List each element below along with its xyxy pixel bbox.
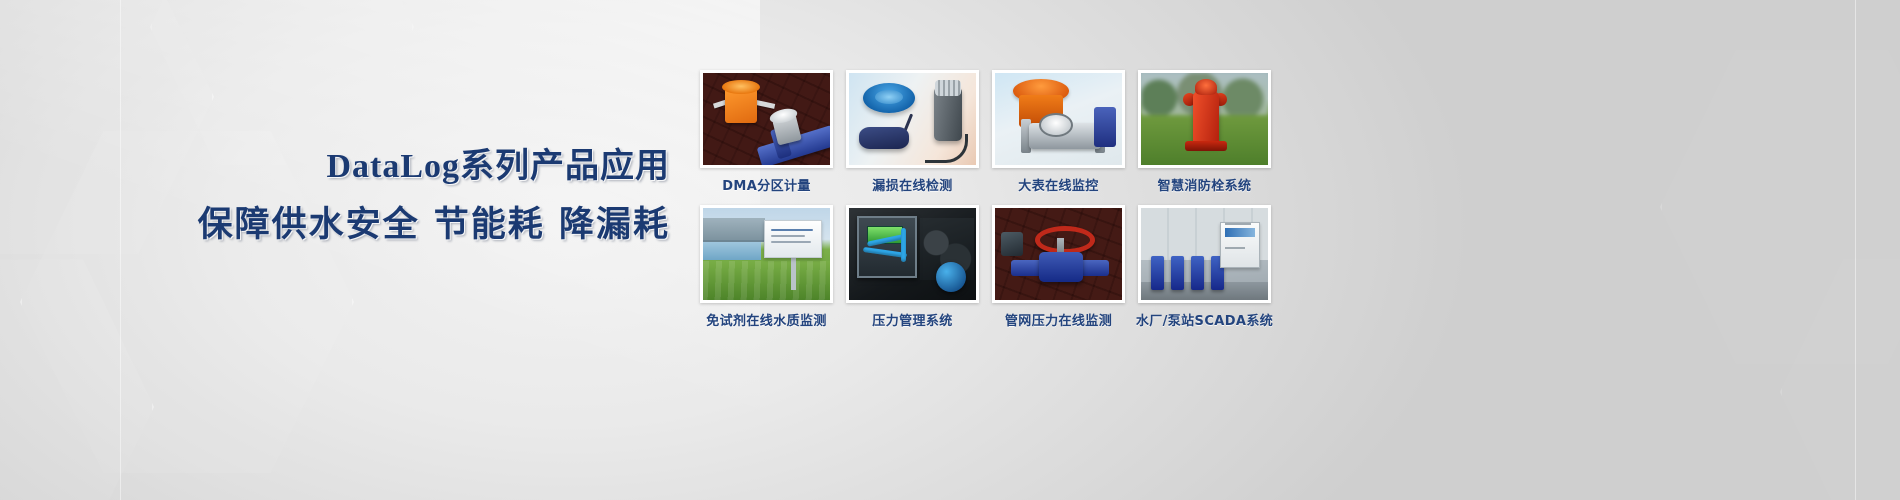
product-caption: 智慧消防栓系统 — [1158, 175, 1252, 194]
product-thumbnail[interactable] — [1138, 205, 1271, 303]
smart-fire-hydrant-photo — [1141, 73, 1268, 165]
product-thumbnail[interactable] — [992, 70, 1125, 168]
product-caption: 水厂/泵站SCADA系统 — [1136, 310, 1273, 329]
product-card-water-quality[interactable]: 免试剂在线水质监测 — [700, 205, 833, 331]
product-caption: 漏损在线检测 — [872, 175, 952, 194]
product-card-scada[interactable]: 水厂/泵站SCADA系统 — [1138, 205, 1271, 331]
product-caption: DMA分区计量 — [722, 175, 811, 194]
product-card-pressure-management[interactable]: 压力管理系统 — [846, 205, 979, 331]
product-application-grid: DMA分区计量 漏损在线检测 — [700, 70, 1280, 331]
waterworks-pump-scada-photo — [1141, 208, 1268, 300]
product-thumbnail[interactable] — [700, 205, 833, 303]
background-vertical-line — [1855, 0, 1856, 500]
diagonal-light-overlay — [0, 0, 760, 500]
product-card-large-meter[interactable]: 大表在线监控 — [992, 70, 1125, 196]
headline-line-2: 保障供水安全 节能耗 降漏耗 — [0, 206, 670, 245]
water-quality-station-photo — [703, 208, 830, 300]
product-card-pipe-pressure[interactable]: 管网压力在线监测 — [992, 205, 1125, 331]
product-application-banner: DataLog系列产品应用 保障供水安全 节能耗 降漏耗 DMA分区计量 — [0, 0, 1900, 500]
product-thumbnail[interactable] — [846, 70, 979, 168]
pressure-management-cabinet-photo — [849, 208, 976, 300]
product-caption: 压力管理系统 — [872, 310, 952, 329]
product-card-leak-detection[interactable]: 漏损在线检测 — [846, 70, 979, 196]
dma-metering-chamber-photo — [703, 73, 830, 165]
product-thumbnail[interactable] — [846, 205, 979, 303]
large-water-meter-photo — [995, 73, 1122, 165]
product-thumbnail[interactable] — [992, 205, 1125, 303]
product-card-smart-hydrant[interactable]: 智慧消防栓系统 — [1138, 70, 1271, 196]
product-card-dma-metering[interactable]: DMA分区计量 — [700, 70, 833, 196]
banner-headline: DataLog系列产品应用 保障供水安全 节能耗 降漏耗 — [0, 148, 690, 245]
hexagon-shape — [1660, 40, 1900, 374]
product-thumbnail[interactable] — [1138, 70, 1271, 168]
background-vertical-line — [120, 0, 121, 500]
product-caption: 管网压力在线监测 — [1005, 310, 1112, 329]
pipe-network-pressure-valve-photo — [995, 208, 1122, 300]
headline-line-1: DataLog系列产品应用 — [0, 148, 670, 185]
product-caption: 免试剂在线水质监测 — [706, 310, 827, 329]
product-caption: 大表在线监控 — [1018, 175, 1098, 194]
leak-detection-logger-photo — [849, 73, 976, 165]
hexagon-shape — [1780, 250, 1900, 500]
product-thumbnail[interactable] — [700, 70, 833, 168]
